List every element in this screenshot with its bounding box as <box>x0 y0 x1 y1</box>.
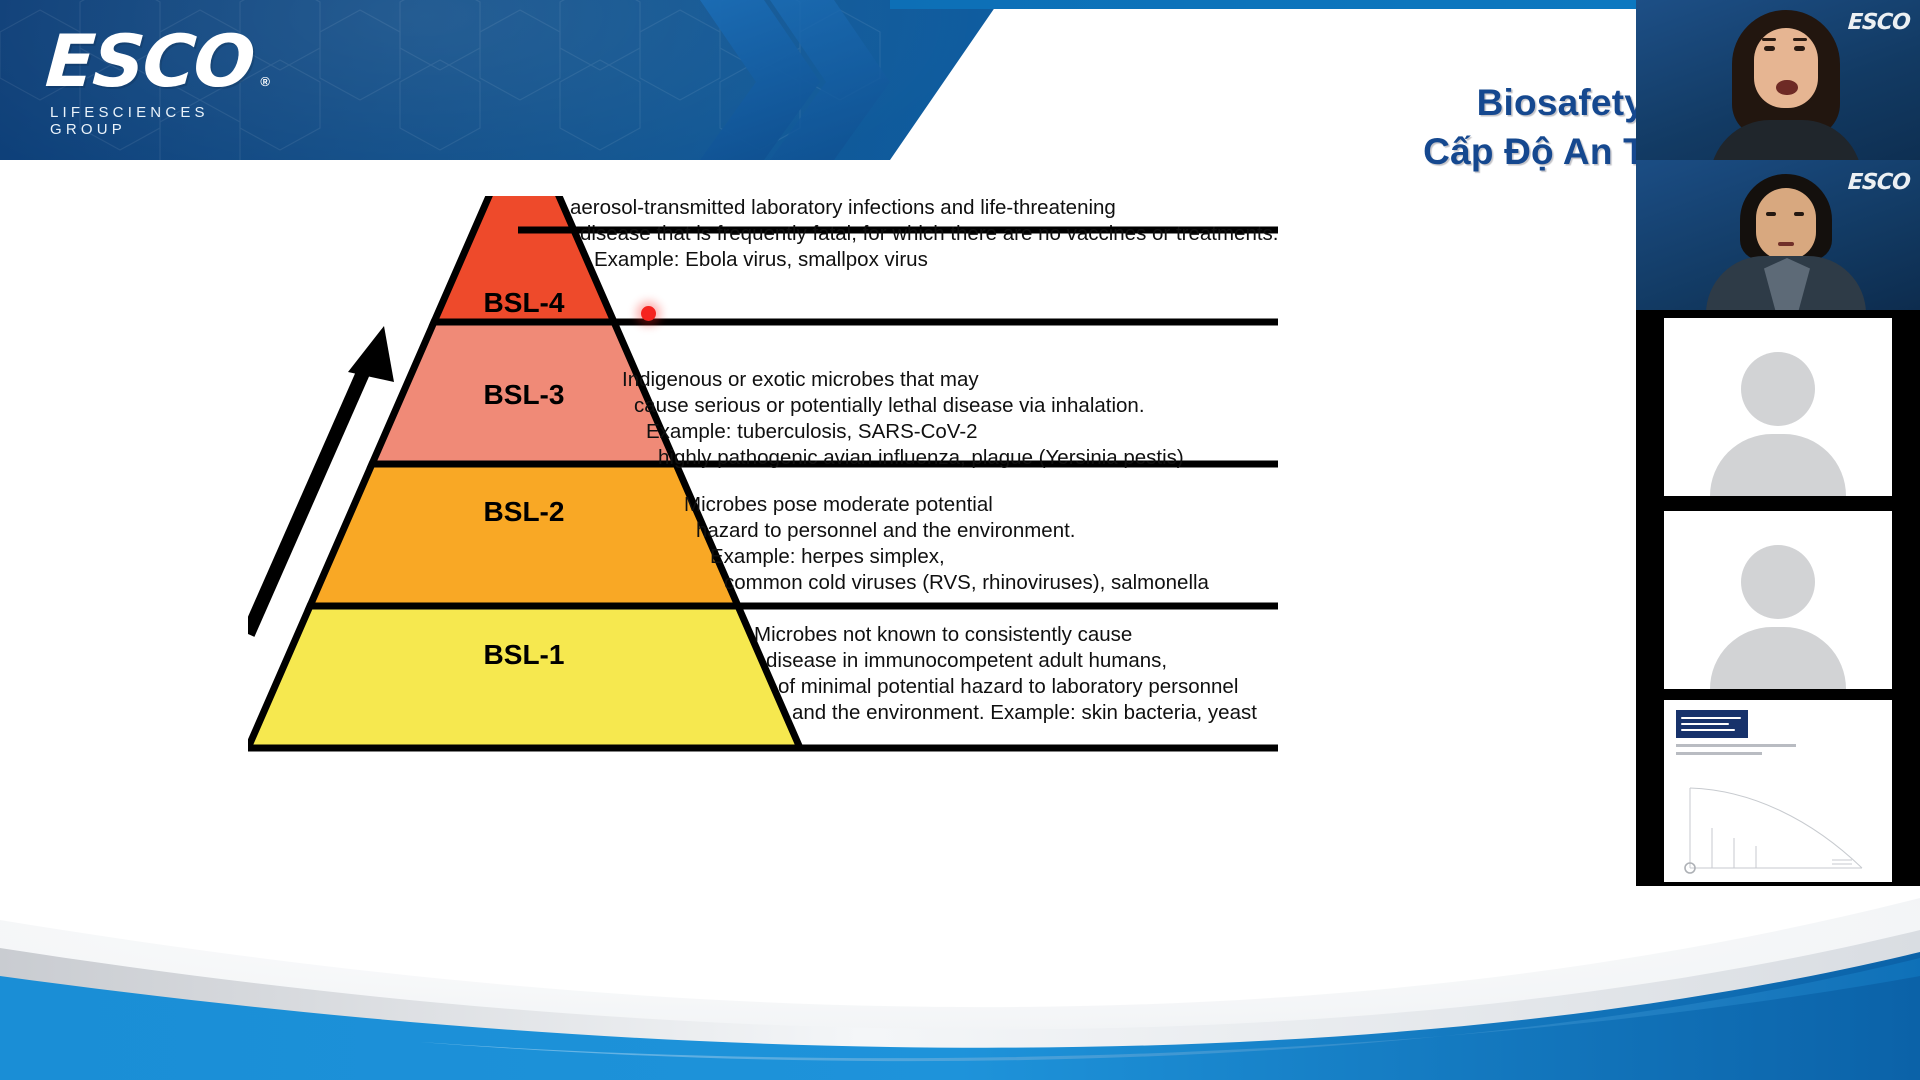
bsl1-line-2: disease in immunocompetent adult humans, <box>766 649 1167 672</box>
pyramid-level-bsl-1[interactable] <box>248 606 800 748</box>
bsl2-line-2: hazard to personnel and the environment. <box>696 519 1076 542</box>
pyramid-label-bsl-3: BSL-3 <box>484 379 565 410</box>
bsl3-line-3: Example: tuberculosis, SARS-CoV-2 <box>646 420 978 443</box>
document-text-line-1 <box>1676 744 1796 747</box>
avatar-brow-right <box>1793 38 1807 41</box>
avatar-placeholder-card <box>1664 511 1892 689</box>
bsl3-line-1: Indigenous or exotic microbes that may <box>622 368 979 391</box>
person-icon-head <box>1741 352 1815 426</box>
bsl1-line-1: Microbes not known to consistently cause <box>754 623 1132 646</box>
person-icon-body <box>1710 627 1846 689</box>
pyramid-label-bsl-4: BSL-4 <box>484 287 565 318</box>
bsl1-line-4: and the environment. Example: skin bacte… <box>792 701 1257 724</box>
avatar-mouth <box>1776 80 1798 95</box>
bsl4-line-3: disease that is frequently fatal, for wh… <box>580 222 1279 245</box>
avatar-brow-left <box>1762 38 1776 41</box>
document-title-block <box>1676 710 1748 738</box>
person-icon-body <box>1710 434 1846 496</box>
pyramid-label-bsl-2: BSL-2 <box>484 496 565 527</box>
document-text-line-2 <box>1676 752 1762 755</box>
bsl3-line-2: cause serious or potentially lethal dise… <box>634 394 1145 417</box>
pyramid-description-bsl-4: Exotic agents that pose a high risk of a… <box>560 196 1279 271</box>
pyramid-description-bsl-2: Microbes pose moderate potential hazard … <box>684 493 1210 594</box>
bsl2-line-4: common cold viruses (RVS, rhinoviruses),… <box>724 571 1210 594</box>
video-tile-participant-1[interactable]: ESCO <box>1636 0 1920 160</box>
pyramid-label-bsl-1: BSL-1 <box>484 639 565 670</box>
avatar-placeholder-card <box>1664 318 1892 496</box>
pyramid-description-bsl-1: Microbes not known to consistently cause… <box>754 623 1257 724</box>
tile-watermark-logo: ESCO <box>1847 10 1910 35</box>
avatar-eye-left <box>1766 212 1776 216</box>
esco-logo: ESCO ® LIFESCIENCES GROUP <box>46 22 276 134</box>
video-tile-participant-2[interactable]: ESCO <box>1636 160 1920 310</box>
mouse-cursor-indicator <box>641 306 656 321</box>
bsl4-line-4: Example: Ebola virus, smallpox virus <box>594 248 928 271</box>
shared-document-thumbnail <box>1664 700 1892 882</box>
video-tile-participant-5[interactable] <box>1636 696 1920 886</box>
avatar-eye-left <box>1764 46 1775 51</box>
logo-wordmark: ESCO <box>43 22 278 100</box>
avatar-face <box>1756 188 1816 260</box>
presentation-screen: ESCO ® LIFESCIENCES GROUP Biosafety Leve… <box>0 0 1920 1080</box>
avatar-eye-right <box>1794 212 1804 216</box>
avatar-eye-right <box>1794 46 1805 51</box>
technical-drawing-icon <box>1682 768 1878 876</box>
pyramid-level-bsl-2[interactable] <box>310 464 738 606</box>
bsl1-line-3: of minimal potential hazard to laborator… <box>778 675 1238 698</box>
video-tile-participant-4[interactable] <box>1636 503 1920 696</box>
tile-watermark-logo: ESCO <box>1847 170 1910 195</box>
bsl2-line-3: Example: herpes simplex, <box>710 545 945 568</box>
video-participant-rail: ESCO ESCO <box>1636 0 1920 886</box>
slide-canvas: ESCO ® LIFESCIENCES GROUP Biosafety Leve… <box>0 0 1920 1080</box>
bsl3-line-4: highly pathogenic avian influenza, plagu… <box>658 446 1184 469</box>
person-icon-head <box>1741 545 1815 619</box>
logo-tagline: LIFESCIENCES GROUP <box>46 104 276 138</box>
biosafety-level-pyramid-diagram: BSL-4 BSL-3 BSL-2 BSL-1 Exotic agents th… <box>248 196 1308 776</box>
bsl2-line-1: Microbes pose moderate potential <box>684 493 993 516</box>
pyramid-description-bsl-3: Indigenous or exotic microbes that may c… <box>622 368 1184 469</box>
avatar-torso <box>1710 120 1862 160</box>
logo-registered-mark: ® <box>260 74 270 89</box>
video-tile-participant-3[interactable] <box>1636 310 1920 503</box>
footer-swoosh-decoration <box>0 780 1920 1080</box>
bsl4-line-2: aerosol-transmitted laboratory infection… <box>570 196 1116 219</box>
avatar-mouth <box>1778 242 1794 246</box>
